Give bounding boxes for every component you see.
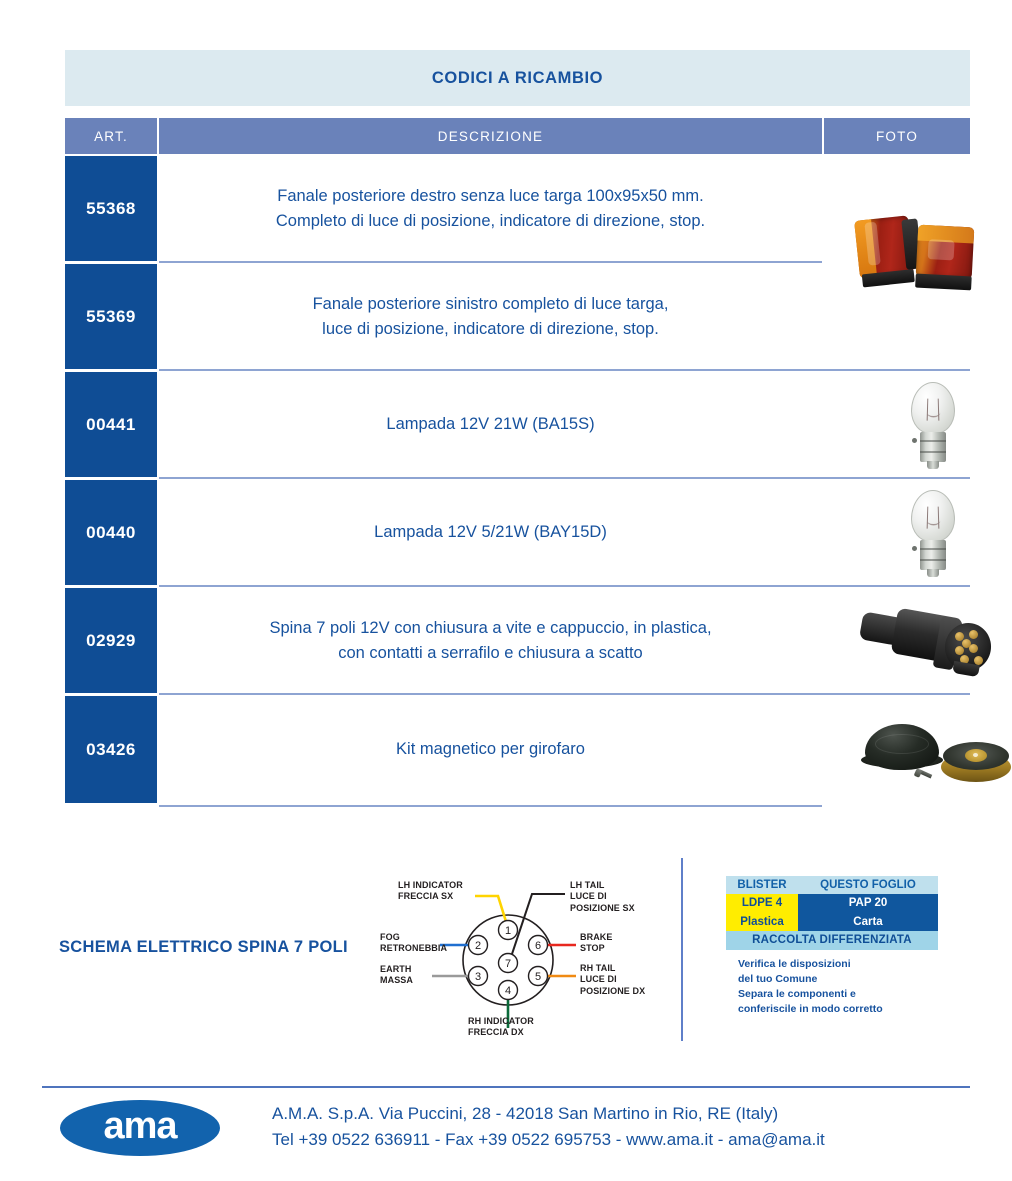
pin-2-number: 2 xyxy=(475,940,481,952)
pin-3-number: 3 xyxy=(475,971,481,983)
table-row: 55368 Fanale posteriore destro senza luc… xyxy=(65,156,970,261)
description-text: Fanale posteriore destro senza luce targ… xyxy=(276,184,705,234)
recycling-code-row: LDPE 4 PAP 20 xyxy=(726,894,938,912)
description-cell: Lampada 12V 21W (BA15S) xyxy=(159,372,822,477)
recycling-blister-header: BLISTER xyxy=(726,876,798,894)
pin-1-label: LH INDICATORFRECCIA SX xyxy=(398,880,463,903)
pin-2-label: FOGRETRONEBBIA xyxy=(380,932,447,955)
recycling-sheet-material: Carta xyxy=(798,913,938,931)
row-divider xyxy=(159,805,822,807)
table-row: 00440 Lampada 12V 5/21W (BAY15D) xyxy=(65,480,970,585)
article-code-cell: 55368 xyxy=(65,156,157,261)
column-header-descrizione: DESCRIZIONE xyxy=(159,118,822,154)
logo-text: ama xyxy=(103,1107,176,1149)
column-header-foto: FOTO xyxy=(824,118,970,154)
recycling-note: Verifica le disposizionidel tuo ComuneSe… xyxy=(726,957,938,1018)
table-row: 02929 Spina 7 poli 12V con chiusura a vi… xyxy=(65,588,970,693)
article-code-cell: 00440 xyxy=(65,480,157,585)
recycling-footer-label: RACCOLTA DIFFERENZIATA xyxy=(726,931,938,949)
product-photo-bulb-ba15s xyxy=(903,382,963,470)
product-photo-bulb-bay15d xyxy=(903,490,963,578)
pin-7-label: LH TAILLUCE DIPOSIZIONE SX xyxy=(570,880,635,914)
tail-lamp-right-icon xyxy=(916,225,975,280)
description-text: Lampada 12V 5/21W (BAY15D) xyxy=(374,520,607,545)
row-divider xyxy=(159,585,970,587)
wiring-diagram: 1 2 3 4 5 6 7 LH INDICATORFRECCIA SX LH … xyxy=(380,868,665,1038)
pin-7-number: 7 xyxy=(505,958,511,970)
catalog-page: CODICI A RICAMBIO ART. DESCRIZIONE FOTO … xyxy=(0,0,1012,1181)
schema-title: SCHEMA ELETTRICO SPINA 7 POLI xyxy=(59,938,348,957)
page-title-banner: CODICI A RICAMBIO xyxy=(65,50,970,106)
article-code-cell: 03426 xyxy=(65,696,157,803)
row-divider xyxy=(159,693,970,695)
pin-4-label: RH INDICATORFRECCIA DX xyxy=(468,1016,534,1039)
description-cell: Lampada 12V 5/21W (BAY15D) xyxy=(159,480,822,585)
section-divider xyxy=(681,858,683,1041)
article-code-cell: 00441 xyxy=(65,372,157,477)
description-cell: Fanale posteriore sinistro completo di l… xyxy=(159,264,822,369)
recycling-sheet-header: QUESTO FOGLIO xyxy=(798,876,938,894)
article-code-cell: 02929 xyxy=(65,588,157,693)
pin-5-label: RH TAILLUCE DIPOSIZIONE DX xyxy=(580,963,645,997)
row-divider xyxy=(159,261,822,263)
product-photo-magnetic-kit xyxy=(859,712,1012,794)
recycling-blister-code: LDPE 4 xyxy=(726,894,798,912)
row-divider xyxy=(159,369,970,371)
pin-3-label: EARTHMASSA xyxy=(380,964,413,987)
table-body: 55368 Fanale posteriore destro senza luc… xyxy=(65,156,970,808)
article-code-cell: 55369 xyxy=(65,264,157,369)
table-header: ART. DESCRIZIONE FOTO xyxy=(65,118,970,154)
pin-1-number: 1 xyxy=(505,925,511,937)
column-header-art: ART. xyxy=(65,118,157,154)
pin-6-number: 6 xyxy=(535,940,541,952)
recycling-blister-material: Plastica xyxy=(726,913,798,931)
table-row: 55369 Fanale posteriore sinistro complet… xyxy=(65,264,970,369)
company-logo: ama xyxy=(60,1100,220,1156)
description-text: Spina 7 poli 12V con chiusura a vite e c… xyxy=(269,616,711,666)
recycling-sheet-code: PAP 20 xyxy=(798,894,938,912)
company-address: A.M.A. S.p.A. Via Puccini, 28 - 42018 Sa… xyxy=(272,1101,825,1154)
pin-4-number: 4 xyxy=(505,985,511,997)
recycling-table: BLISTER QUESTO FOGLIO LDPE 4 PAP 20 Plas… xyxy=(726,876,938,950)
recycling-header-row: BLISTER QUESTO FOGLIO xyxy=(726,876,938,894)
description-text: Lampada 12V 21W (BA15S) xyxy=(386,412,594,437)
table-row: 00441 Lampada 12V 21W (BA15S) xyxy=(65,372,970,477)
page-title: CODICI A RICAMBIO xyxy=(432,69,603,88)
pin-5-number: 5 xyxy=(535,971,541,983)
recycling-material-row: Plastica Carta xyxy=(726,913,938,931)
description-cell: Kit magnetico per girofaro xyxy=(159,696,822,803)
footer-divider xyxy=(42,1086,970,1088)
description-cell: Spina 7 poli 12V con chiusura a vite e c… xyxy=(159,588,822,693)
row-divider xyxy=(159,477,970,479)
recycling-info: BLISTER QUESTO FOGLIO LDPE 4 PAP 20 Plas… xyxy=(726,876,938,1017)
product-photo-tail-lamps xyxy=(843,208,989,292)
product-photo-plug-7pin xyxy=(861,599,1001,687)
recycling-footer-row: RACCOLTA DIFFERENZIATA xyxy=(726,931,938,949)
description-text: Kit magnetico per girofaro xyxy=(396,737,585,762)
description-text: Fanale posteriore sinistro completo di l… xyxy=(313,292,669,342)
description-cell: Fanale posteriore destro senza luce targ… xyxy=(159,156,822,261)
pin-6-label: BRAKESTOP xyxy=(580,932,613,955)
table-row: 03426 Kit magnetico per girofaro xyxy=(65,696,970,803)
tail-lamp-left-icon xyxy=(854,215,914,278)
